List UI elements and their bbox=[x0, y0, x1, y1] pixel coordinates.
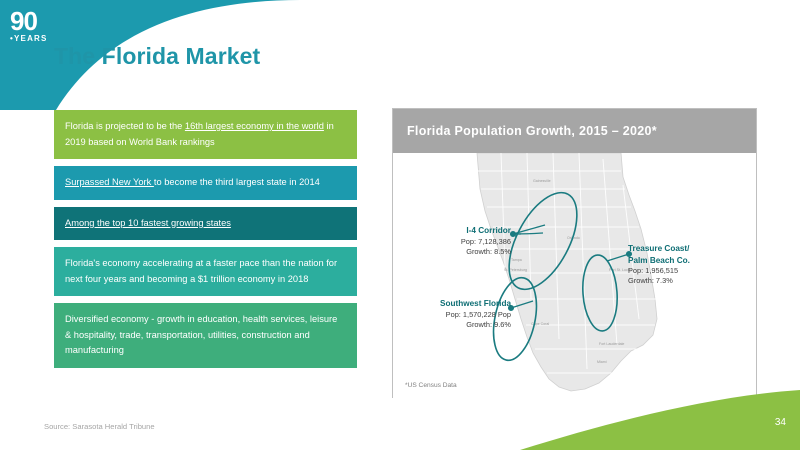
callout-treasure-coast-growth: Growth: 7.3% bbox=[628, 276, 753, 286]
map-panel-title: Florida Population Growth, 2015 – 2020* bbox=[407, 124, 657, 138]
bullet-text-run: Among the top 10 fastest growing states bbox=[65, 218, 231, 228]
source-citation: Source: Sarasota Herald Tribune bbox=[44, 422, 155, 431]
callout-treasure-coast: Treasure Coast/ Palm Beach Co. Pop: 1,95… bbox=[628, 243, 753, 286]
svg-text:Tampa: Tampa bbox=[511, 258, 522, 262]
callout-treasure-coast-name-line2: Palm Beach Co. bbox=[628, 255, 753, 267]
callout-southwest-florida: Southwest Florida Pop: 1,570,228 Pop Gro… bbox=[397, 298, 511, 330]
bullet-surpassed-new-york-text: Surpassed New York to become the third l… bbox=[65, 175, 346, 191]
bullet-text-run: Surpassed New York bbox=[65, 177, 154, 187]
census-footnote: *US Census Data bbox=[405, 382, 457, 389]
svg-text:Orlando: Orlando bbox=[567, 236, 580, 240]
slide-canvas: 90 •YEARS The Florida Market Florida is … bbox=[0, 0, 800, 450]
logo-number: 90 bbox=[10, 8, 72, 34]
callout-treasure-coast-name-line1: Treasure Coast/ bbox=[628, 243, 753, 255]
bullet-text-run: Florida is projected to be the bbox=[65, 121, 185, 131]
callout-i4-corridor: I-4 Corridor Pop: 7,128,386 Growth: 8.5% bbox=[403, 225, 511, 257]
bullet-top-10-growing-text: Among the top 10 fastest growing states bbox=[65, 216, 346, 232]
map-panel-body: Gainesville Orlando Tampa St. Petersburg… bbox=[393, 153, 756, 398]
callout-southwest-growth: Growth: 9.6% bbox=[397, 320, 511, 330]
map-panel: Florida Population Growth, 2015 – 2020* bbox=[392, 108, 757, 398]
bullet-text-run: Diversified economy - growth in educatio… bbox=[65, 314, 337, 355]
bullet-text-run: Florida's economy accelerating at a fast… bbox=[65, 258, 337, 284]
svg-text:St. Petersburg: St. Petersburg bbox=[504, 268, 527, 272]
bullet-list: Florida is projected to be the 16th larg… bbox=[54, 110, 357, 375]
callout-treasure-coast-pop: Pop: 1,956,515 bbox=[628, 266, 753, 276]
svg-text:Gainesville: Gainesville bbox=[533, 179, 551, 183]
callout-southwest-name: Southwest Florida bbox=[397, 298, 511, 310]
callout-i4-pop: Pop: 7,128,386 bbox=[403, 237, 511, 247]
svg-text:Cape Coral: Cape Coral bbox=[531, 322, 549, 326]
bullet-diversified-economy: Diversified economy - growth in educatio… bbox=[54, 303, 357, 368]
bullet-economy-rank: Florida is projected to be the 16th larg… bbox=[54, 110, 357, 159]
bullet-accelerating-economy-text: Florida's economy accelerating at a fast… bbox=[65, 256, 346, 287]
bullet-accelerating-economy: Florida's economy accelerating at a fast… bbox=[54, 247, 357, 296]
bullet-text-run: to become the third largest state in 201… bbox=[154, 177, 320, 187]
bullet-economy-rank-text: Florida is projected to be the 16th larg… bbox=[65, 119, 346, 150]
green-corner-decoration bbox=[460, 390, 800, 450]
bullet-text-run: 16th largest economy in the world bbox=[185, 121, 324, 131]
map-panel-header: Florida Population Growth, 2015 – 2020* bbox=[393, 109, 756, 153]
page-number: 34 bbox=[775, 417, 786, 428]
callout-southwest-pop: Pop: 1,570,228 Pop bbox=[397, 310, 511, 320]
svg-text:Miami: Miami bbox=[597, 360, 607, 364]
bullet-diversified-economy-text: Diversified economy - growth in educatio… bbox=[65, 312, 346, 359]
bullet-top-10-growing: Among the top 10 fastest growing states bbox=[54, 207, 357, 241]
svg-text:Fort Lauderdale: Fort Lauderdale bbox=[599, 342, 624, 346]
bullet-surpassed-new-york: Surpassed New York to become the third l… bbox=[54, 166, 357, 200]
callout-i4-name: I-4 Corridor bbox=[403, 225, 511, 237]
callout-i4-growth: Growth: 8.5% bbox=[403, 247, 511, 257]
page-title: The Florida Market bbox=[54, 43, 260, 70]
